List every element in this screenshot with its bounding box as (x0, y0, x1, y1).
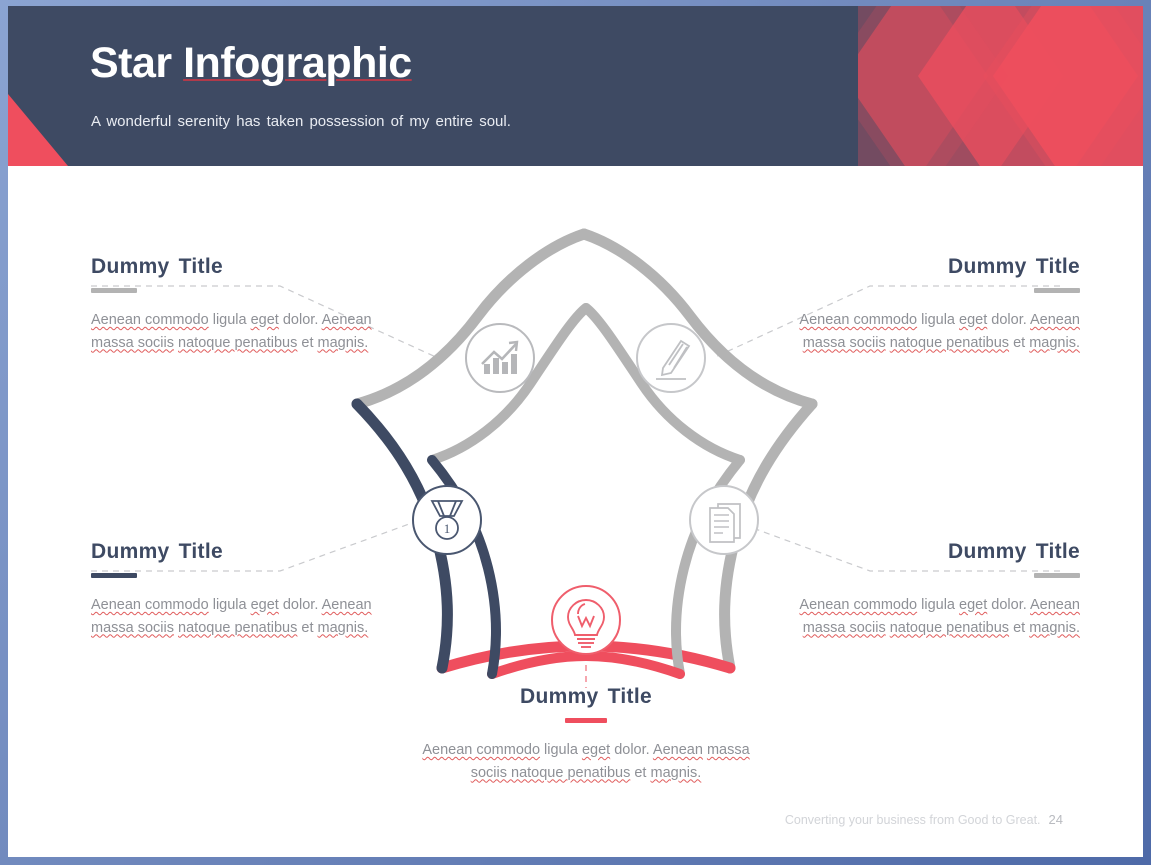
block-bottom-right: Dummy Title Aenean commodo ligula eget d… (770, 540, 1080, 639)
block-bottom-left: Dummy Title Aenean commodo ligula eget d… (91, 540, 401, 639)
slide-footer: Converting your business from Good to Gr… (785, 812, 1063, 827)
block-body: Aenean commodo ligula eget dolor. Aenean… (416, 739, 756, 784)
slide-frame: Star Infographic A wonderful serenity ha… (0, 0, 1151, 865)
block-accent-bar (1034, 573, 1080, 578)
footer-tagline: Converting your business from Good to Gr… (785, 813, 1041, 827)
medal-number: 1 (444, 521, 451, 536)
title-part-1: Star (90, 39, 183, 87)
header-diamond-pattern (858, 6, 1143, 166)
slide-header: Star Infographic A wonderful serenity ha… (8, 6, 1143, 166)
block-title: Dummy Title (770, 255, 1080, 279)
block-body: Aenean commodo ligula eget dolor. Aenean… (91, 309, 401, 354)
block-title: Dummy Title (91, 255, 401, 279)
block-top-left: Dummy Title Aenean commodo ligula eget d… (91, 255, 401, 354)
block-accent-bar (1034, 288, 1080, 293)
title-part-2: Infographic (183, 39, 412, 87)
documents-icon[interactable] (690, 486, 758, 554)
lightbulb-icon[interactable] (552, 586, 620, 654)
pencil-icon[interactable] (637, 324, 705, 392)
block-title: Dummy Title (416, 685, 756, 709)
block-accent-bar (565, 718, 607, 723)
block-body: Aenean commodo ligula eget dolor. Aenean… (770, 594, 1080, 639)
block-body: Aenean commodo ligula eget dolor. Aenean… (91, 594, 401, 639)
page-title: Star Infographic (90, 39, 412, 88)
block-bottom-center: Dummy Title Aenean commodo ligula eget d… (416, 685, 756, 784)
block-accent-bar (91, 573, 137, 578)
block-title: Dummy Title (91, 540, 401, 564)
block-top-right: Dummy Title Aenean commodo ligula eget d… (770, 255, 1080, 354)
slide-canvas: Star Infographic A wonderful serenity ha… (8, 6, 1143, 857)
growth-chart-icon[interactable] (466, 324, 534, 392)
medal-icon[interactable]: 1 (413, 486, 481, 554)
page-subtitle: A wonderful serenity has taken possessio… (91, 113, 511, 130)
block-accent-bar (91, 288, 137, 293)
block-body: Aenean commodo ligula eget dolor. Aenean… (770, 309, 1080, 354)
block-title: Dummy Title (770, 540, 1080, 564)
page-number: 24 (1049, 812, 1063, 827)
